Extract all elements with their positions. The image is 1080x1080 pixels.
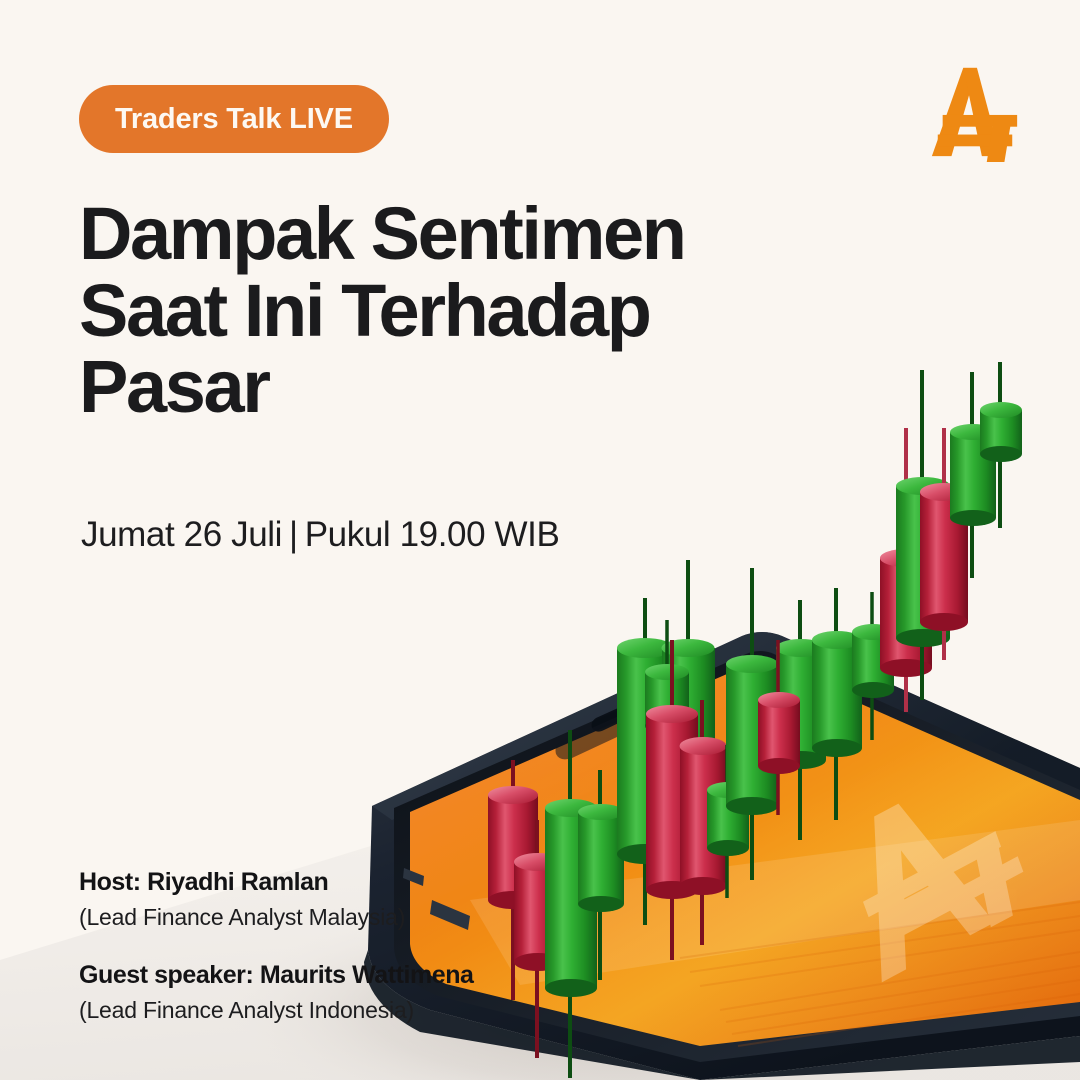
host-name: Host: Riyadhi Ramlan (79, 866, 474, 898)
page-title: Dampak Sentimen Saat Ini Terhadap Pasar (79, 196, 839, 426)
headline-line-2: Saat Ini Terhadap (79, 273, 839, 350)
event-date: Jumat 26 Juli (81, 515, 282, 554)
datetime-separator: | (282, 515, 305, 554)
guest-name: Guest speaker: Maurits Wattimena (79, 959, 474, 991)
headline-line-3: Pasar (79, 349, 839, 426)
brand-logo (926, 62, 1024, 162)
headline-line-1: Dampak Sentimen (79, 196, 839, 273)
host-role: (Lead Finance Analyst Malaysia) (79, 902, 474, 933)
event-time: Pukul 19.00 WIB (305, 515, 560, 554)
acuity-a-logo-icon (926, 62, 1024, 162)
poster-canvas: Traders Talk LIVE Dampak Senti (0, 0, 1080, 1080)
credit-guest: Guest speaker: Maurits Wattimena (Lead F… (79, 959, 474, 1026)
live-badge-label: Traders Talk LIVE (115, 103, 353, 136)
speaker-credits: Host: Riyadhi Ramlan (Lead Finance Analy… (79, 866, 474, 1026)
guest-role: (Lead Finance Analyst Indonesia) (79, 995, 474, 1026)
event-datetime: Jumat 26 Juli|Pukul 19.00 WIB (81, 515, 559, 555)
live-badge: Traders Talk LIVE (79, 85, 389, 153)
credit-host: Host: Riyadhi Ramlan (Lead Finance Analy… (79, 866, 474, 933)
